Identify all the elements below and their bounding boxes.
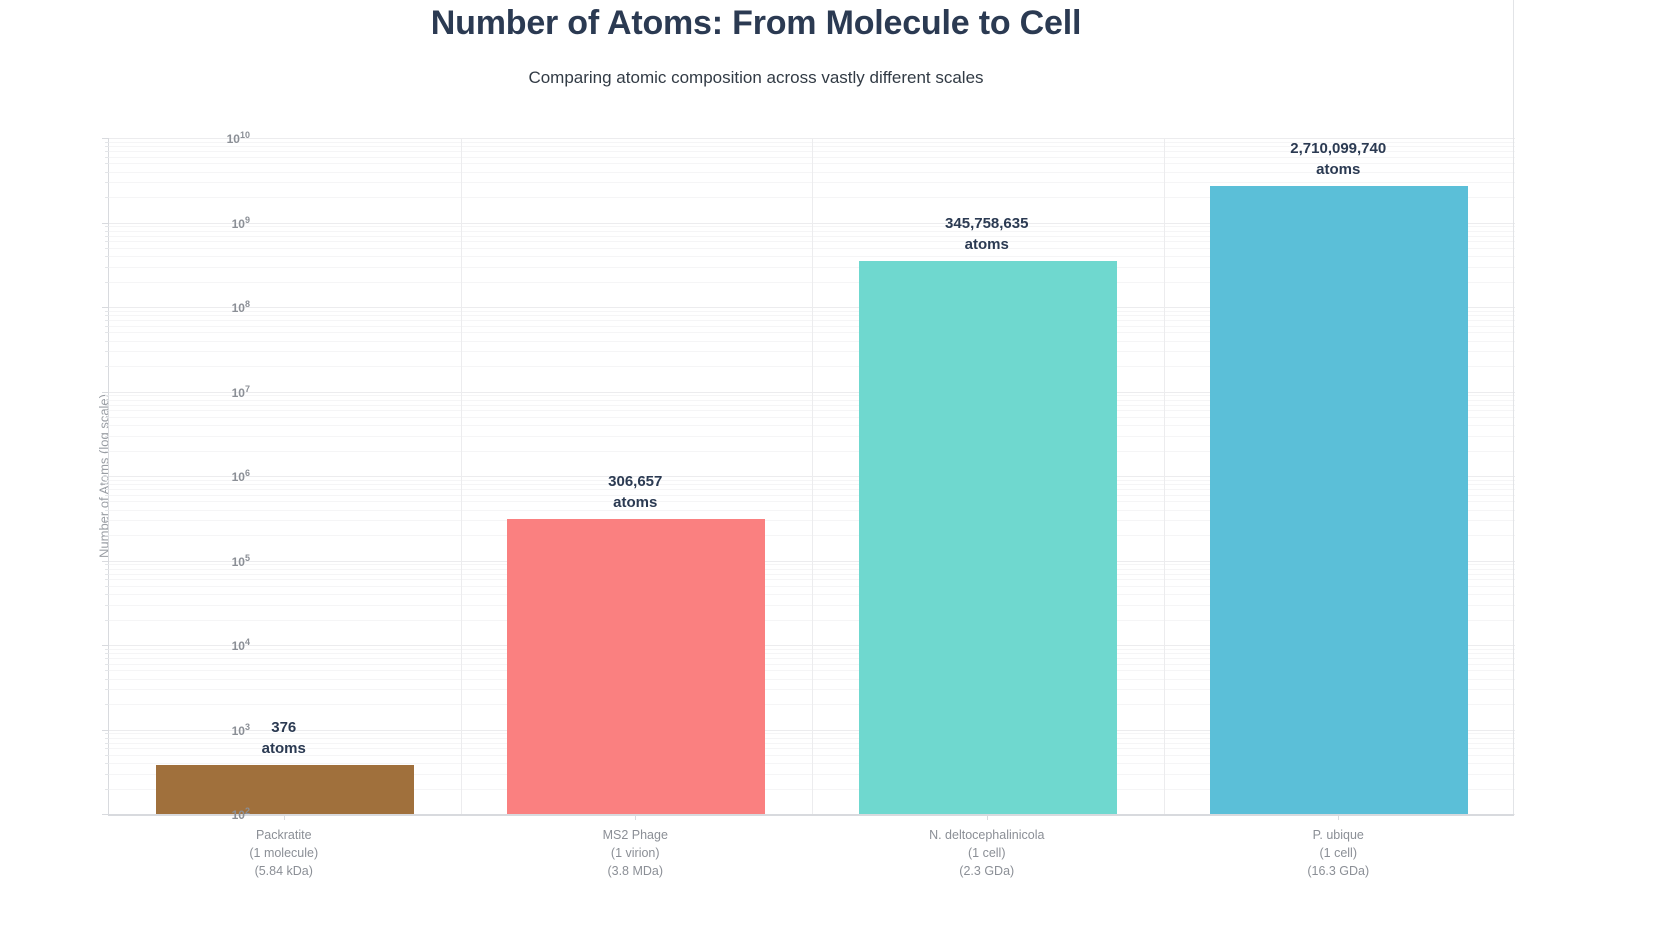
y-tick-mark-minor — [105, 670, 109, 671]
y-tick-mark-minor — [105, 351, 109, 352]
x-tick-label-mass: (3.8 MDa) — [603, 862, 668, 880]
x-tick-label-name: P. ubique — [1307, 826, 1369, 844]
x-tick-label: Packratite(1 molecule)(5.84 kDa) — [249, 826, 318, 880]
y-tick-mark-minor — [105, 579, 109, 580]
y-tick-mark-minor — [105, 451, 109, 452]
y-tick-mark-minor — [105, 586, 109, 587]
y-tick-mark-minor — [105, 320, 109, 321]
bar-value-number: 345,758,635 — [945, 213, 1028, 234]
y-tick-base: 10 — [232, 555, 245, 569]
y-tick-mark-minor — [105, 594, 109, 595]
y-tick-mark-minor — [105, 436, 109, 437]
y-tick-mark-minor — [105, 763, 109, 764]
y-tick-mark-minor — [105, 738, 109, 739]
y-tick-exponent: 10 — [240, 130, 250, 140]
y-tick-mark-minor — [105, 151, 109, 152]
y-tick-label: 108 — [190, 299, 250, 315]
y-tick-mark-minor — [105, 326, 109, 327]
x-tick-label: N. deltocephalinicola(1 cell)(2.3 GDa) — [929, 826, 1044, 880]
bar-value-label: 376atoms — [262, 717, 306, 759]
chart-title: Number of Atoms: From Molecule to Cell — [0, 4, 1512, 43]
y-tick-base: 10 — [232, 301, 245, 315]
x-tick-label-name: MS2 Phage — [603, 826, 668, 844]
y-tick-mark-minor — [105, 501, 109, 502]
bar-ms2-phage[interactable] — [507, 519, 765, 814]
y-tick-mark-minor — [105, 679, 109, 680]
y-tick-mark-minor — [105, 510, 109, 511]
y-tick-exponent: 5 — [245, 553, 250, 563]
y-tick-mark-minor — [105, 248, 109, 249]
y-tick-mark-minor — [105, 520, 109, 521]
y-tick-mark-minor — [105, 653, 109, 654]
bar-value-units: atoms — [945, 234, 1028, 255]
y-tick-mark-minor — [105, 658, 109, 659]
bar-value-number: 376 — [262, 717, 306, 738]
y-tick-mark — [102, 138, 109, 139]
y-tick-base: 10 — [232, 808, 245, 822]
x-tick-label-mass: (5.84 kDa) — [249, 862, 318, 880]
x-tick-mark — [987, 814, 988, 820]
x-tick-label-mass: (16.3 GDa) — [1307, 862, 1369, 880]
y-tick-mark-minor — [105, 341, 109, 342]
y-tick-mark-minor — [105, 489, 109, 490]
bar-value-number: 306,657 — [608, 471, 662, 492]
y-tick-label: 107 — [190, 384, 250, 400]
bar-value-units: atoms — [262, 738, 306, 759]
bar-value-units: atoms — [608, 492, 662, 513]
y-tick-exponent: 7 — [245, 384, 250, 394]
y-tick-mark — [102, 561, 109, 562]
y-tick-mark-minor — [105, 267, 109, 268]
y-tick-mark-minor — [105, 163, 109, 164]
y-tick-mark-minor — [105, 332, 109, 333]
bar-chart: Number of Atoms: From Molecule to Cell C… — [0, 0, 1668, 952]
y-tick-mark — [102, 476, 109, 477]
y-tick-mark-minor — [105, 315, 109, 316]
y-tick-mark-minor — [105, 620, 109, 621]
y-tick-mark-minor — [105, 774, 109, 775]
y-tick-base: 10 — [232, 217, 245, 231]
category-separator — [812, 138, 813, 814]
y-tick-mark-minor — [105, 226, 109, 227]
bar-n-deltocephalinicola[interactable] — [859, 261, 1117, 814]
x-tick-label-name: N. deltocephalinicola — [929, 826, 1044, 844]
category-separator — [1164, 138, 1165, 814]
y-tick-mark-minor — [105, 689, 109, 690]
bar-value-label: 306,657atoms — [608, 471, 662, 513]
y-tick-label: 103 — [190, 722, 250, 738]
y-tick-mark-minor — [105, 311, 109, 312]
y-tick-mark-minor — [105, 157, 109, 158]
y-tick-base: 10 — [232, 639, 245, 653]
y-tick-exponent: 2 — [245, 806, 250, 816]
y-tick-mark-minor — [105, 664, 109, 665]
y-tick-mark-minor — [105, 231, 109, 232]
bar-value-label: 345,758,635atoms — [945, 213, 1028, 255]
y-tick-mark-minor — [105, 535, 109, 536]
y-tick-mark-minor — [105, 704, 109, 705]
x-tick-label-unit: (1 molecule) — [249, 844, 318, 862]
y-tick-mark-minor — [105, 282, 109, 283]
y-tick-mark-minor — [105, 172, 109, 173]
y-tick-mark-minor — [105, 564, 109, 565]
y-tick-base: 10 — [232, 386, 245, 400]
bar-p-ubique[interactable] — [1210, 186, 1468, 814]
y-tick-mark-minor — [105, 366, 109, 367]
y-tick-mark-minor — [105, 256, 109, 257]
chart-subtitle: Comparing atomic composition across vast… — [0, 68, 1512, 88]
x-tick-label-mass: (2.3 GDa) — [929, 862, 1044, 880]
y-tick-mark-minor — [105, 495, 109, 496]
x-tick-label: P. ubique(1 cell)(16.3 GDa) — [1307, 826, 1369, 880]
y-tick-exponent: 3 — [245, 722, 250, 732]
y-tick-mark-minor — [105, 400, 109, 401]
y-tick-mark — [102, 223, 109, 224]
x-tick-label-unit: (1 virion) — [603, 844, 668, 862]
x-tick-mark — [635, 814, 636, 820]
y-tick-mark-minor — [105, 405, 109, 406]
y-tick-mark — [102, 392, 109, 393]
plot-right-border — [1513, 0, 1514, 814]
y-tick-base: 10 — [227, 132, 240, 146]
bar-value-number: 2,710,099,740 — [1290, 138, 1386, 159]
y-tick-label: 109 — [190, 215, 250, 231]
y-tick-label: 102 — [190, 806, 250, 822]
y-tick-mark — [102, 730, 109, 731]
y-tick-mark-minor — [105, 649, 109, 650]
category-separator — [461, 138, 462, 814]
y-tick-mark-minor — [105, 574, 109, 575]
x-axis-line — [108, 814, 1514, 816]
y-tick-mark-minor — [105, 748, 109, 749]
y-tick-mark — [102, 307, 109, 308]
y-tick-mark-minor — [105, 605, 109, 606]
y-tick-label: 104 — [190, 637, 250, 653]
y-tick-mark-minor — [105, 425, 109, 426]
y-tick-label: 1010 — [190, 130, 250, 146]
y-tick-mark-minor — [105, 733, 109, 734]
x-tick-label-name: Packratite — [249, 826, 318, 844]
bar-value-label: 2,710,099,740atoms — [1290, 138, 1386, 180]
x-tick-mark — [1338, 814, 1339, 820]
y-tick-base: 10 — [232, 470, 245, 484]
y-tick-mark-minor — [105, 182, 109, 183]
y-tick-mark-minor — [105, 197, 109, 198]
y-tick-exponent: 4 — [245, 637, 250, 647]
y-tick-mark — [102, 645, 109, 646]
y-tick-label: 105 — [190, 553, 250, 569]
y-tick-mark-minor — [105, 236, 109, 237]
y-tick-mark-minor — [105, 241, 109, 242]
y-tick-base: 10 — [232, 724, 245, 738]
y-tick-mark-minor — [105, 480, 109, 481]
y-tick-mark-minor — [105, 410, 109, 411]
y-tick-mark-minor — [105, 395, 109, 396]
x-tick-label-unit: (1 cell) — [1307, 844, 1369, 862]
x-tick-mark — [284, 814, 285, 820]
y-tick-mark-minor — [105, 755, 109, 756]
y-tick-mark-minor — [105, 142, 109, 143]
x-tick-label-unit: (1 cell) — [929, 844, 1044, 862]
y-tick-mark-minor — [105, 789, 109, 790]
y-tick-exponent: 9 — [245, 215, 250, 225]
plot-area — [108, 138, 1515, 814]
bar-value-units: atoms — [1290, 159, 1386, 180]
y-tick-mark-minor — [105, 569, 109, 570]
y-tick-mark-minor — [105, 484, 109, 485]
y-tick-label: 106 — [190, 468, 250, 484]
y-tick-exponent: 8 — [245, 299, 250, 309]
y-tick-exponent: 6 — [245, 468, 250, 478]
y-tick-mark-minor — [105, 146, 109, 147]
x-tick-label: MS2 Phage(1 virion)(3.8 MDa) — [603, 826, 668, 880]
y-tick-mark-minor — [105, 743, 109, 744]
y-tick-mark-minor — [105, 417, 109, 418]
